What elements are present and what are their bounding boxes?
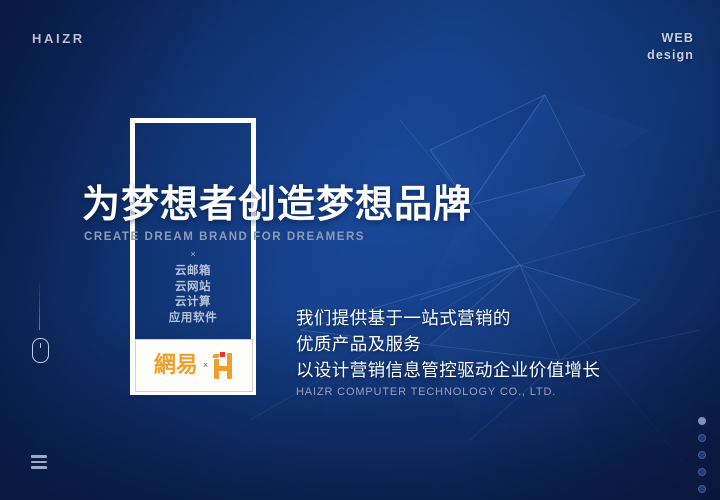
- pagination-dot[interactable]: [698, 468, 706, 476]
- service-menu-list: 云邮箱 云网站 云计算 应用软件: [130, 264, 256, 326]
- netease-logo: 網易: [154, 354, 198, 378]
- description-line-1: 我们提供基于一站式营销的: [296, 305, 600, 331]
- cross-icon: ×: [130, 250, 256, 259]
- description-line-3: 以设计营销信息管控驱动企业价值增长: [296, 357, 600, 383]
- partnership-x-icon: ×: [203, 361, 208, 370]
- corner-label-line2: design: [647, 47, 694, 64]
- pagination-dot[interactable]: [698, 451, 706, 459]
- corner-label: WEB design: [647, 30, 694, 64]
- pagination-dot[interactable]: [698, 485, 706, 493]
- haizr-h-icon: [213, 353, 234, 379]
- scroll-mouse-icon[interactable]: [32, 338, 49, 363]
- brand-logo[interactable]: HAIZR: [32, 31, 85, 46]
- slide-pagination: [698, 417, 706, 500]
- hamburger-menu-icon[interactable]: [31, 455, 47, 469]
- company-name: HAIZR COMPUTER TECHNOLOGY CO., LTD.: [296, 386, 600, 398]
- pagination-dot[interactable]: [698, 434, 706, 442]
- page-title: 为梦想者创造梦想品牌: [82, 183, 472, 227]
- hero-banner: HAIZR WEB design 为梦想者创造梦想品牌 CREATE DREAM…: [0, 0, 720, 500]
- menu-item-cloud-website[interactable]: 云网站: [130, 280, 256, 296]
- description-line-2: 优质产品及服务: [296, 331, 600, 357]
- menu-item-cloud-mail[interactable]: 云邮箱: [130, 264, 256, 280]
- partner-logo-card: 網易 ×: [135, 339, 253, 392]
- menu-item-application-software[interactable]: 应用软件: [130, 311, 256, 327]
- corner-label-line1: WEB: [647, 30, 694, 47]
- headline-block: 为梦想者创造梦想品牌 CREATE DREAM BRAND FOR DREAME…: [82, 183, 472, 243]
- scroll-rail-line: [39, 282, 40, 330]
- mouse-wheel-icon: [40, 343, 42, 348]
- description-block: 我们提供基于一站式营销的 优质产品及服务 以设计营销信息管控驱动企业价值增长 H…: [296, 305, 600, 398]
- page-subtitle: CREATE DREAM BRAND FOR DREAMERS: [84, 231, 472, 243]
- menu-item-cloud-computing[interactable]: 云计算: [130, 295, 256, 311]
- bracket-top-bar: [130, 118, 256, 123]
- pagination-dot[interactable]: [698, 417, 706, 425]
- background-vignette: [0, 0, 720, 500]
